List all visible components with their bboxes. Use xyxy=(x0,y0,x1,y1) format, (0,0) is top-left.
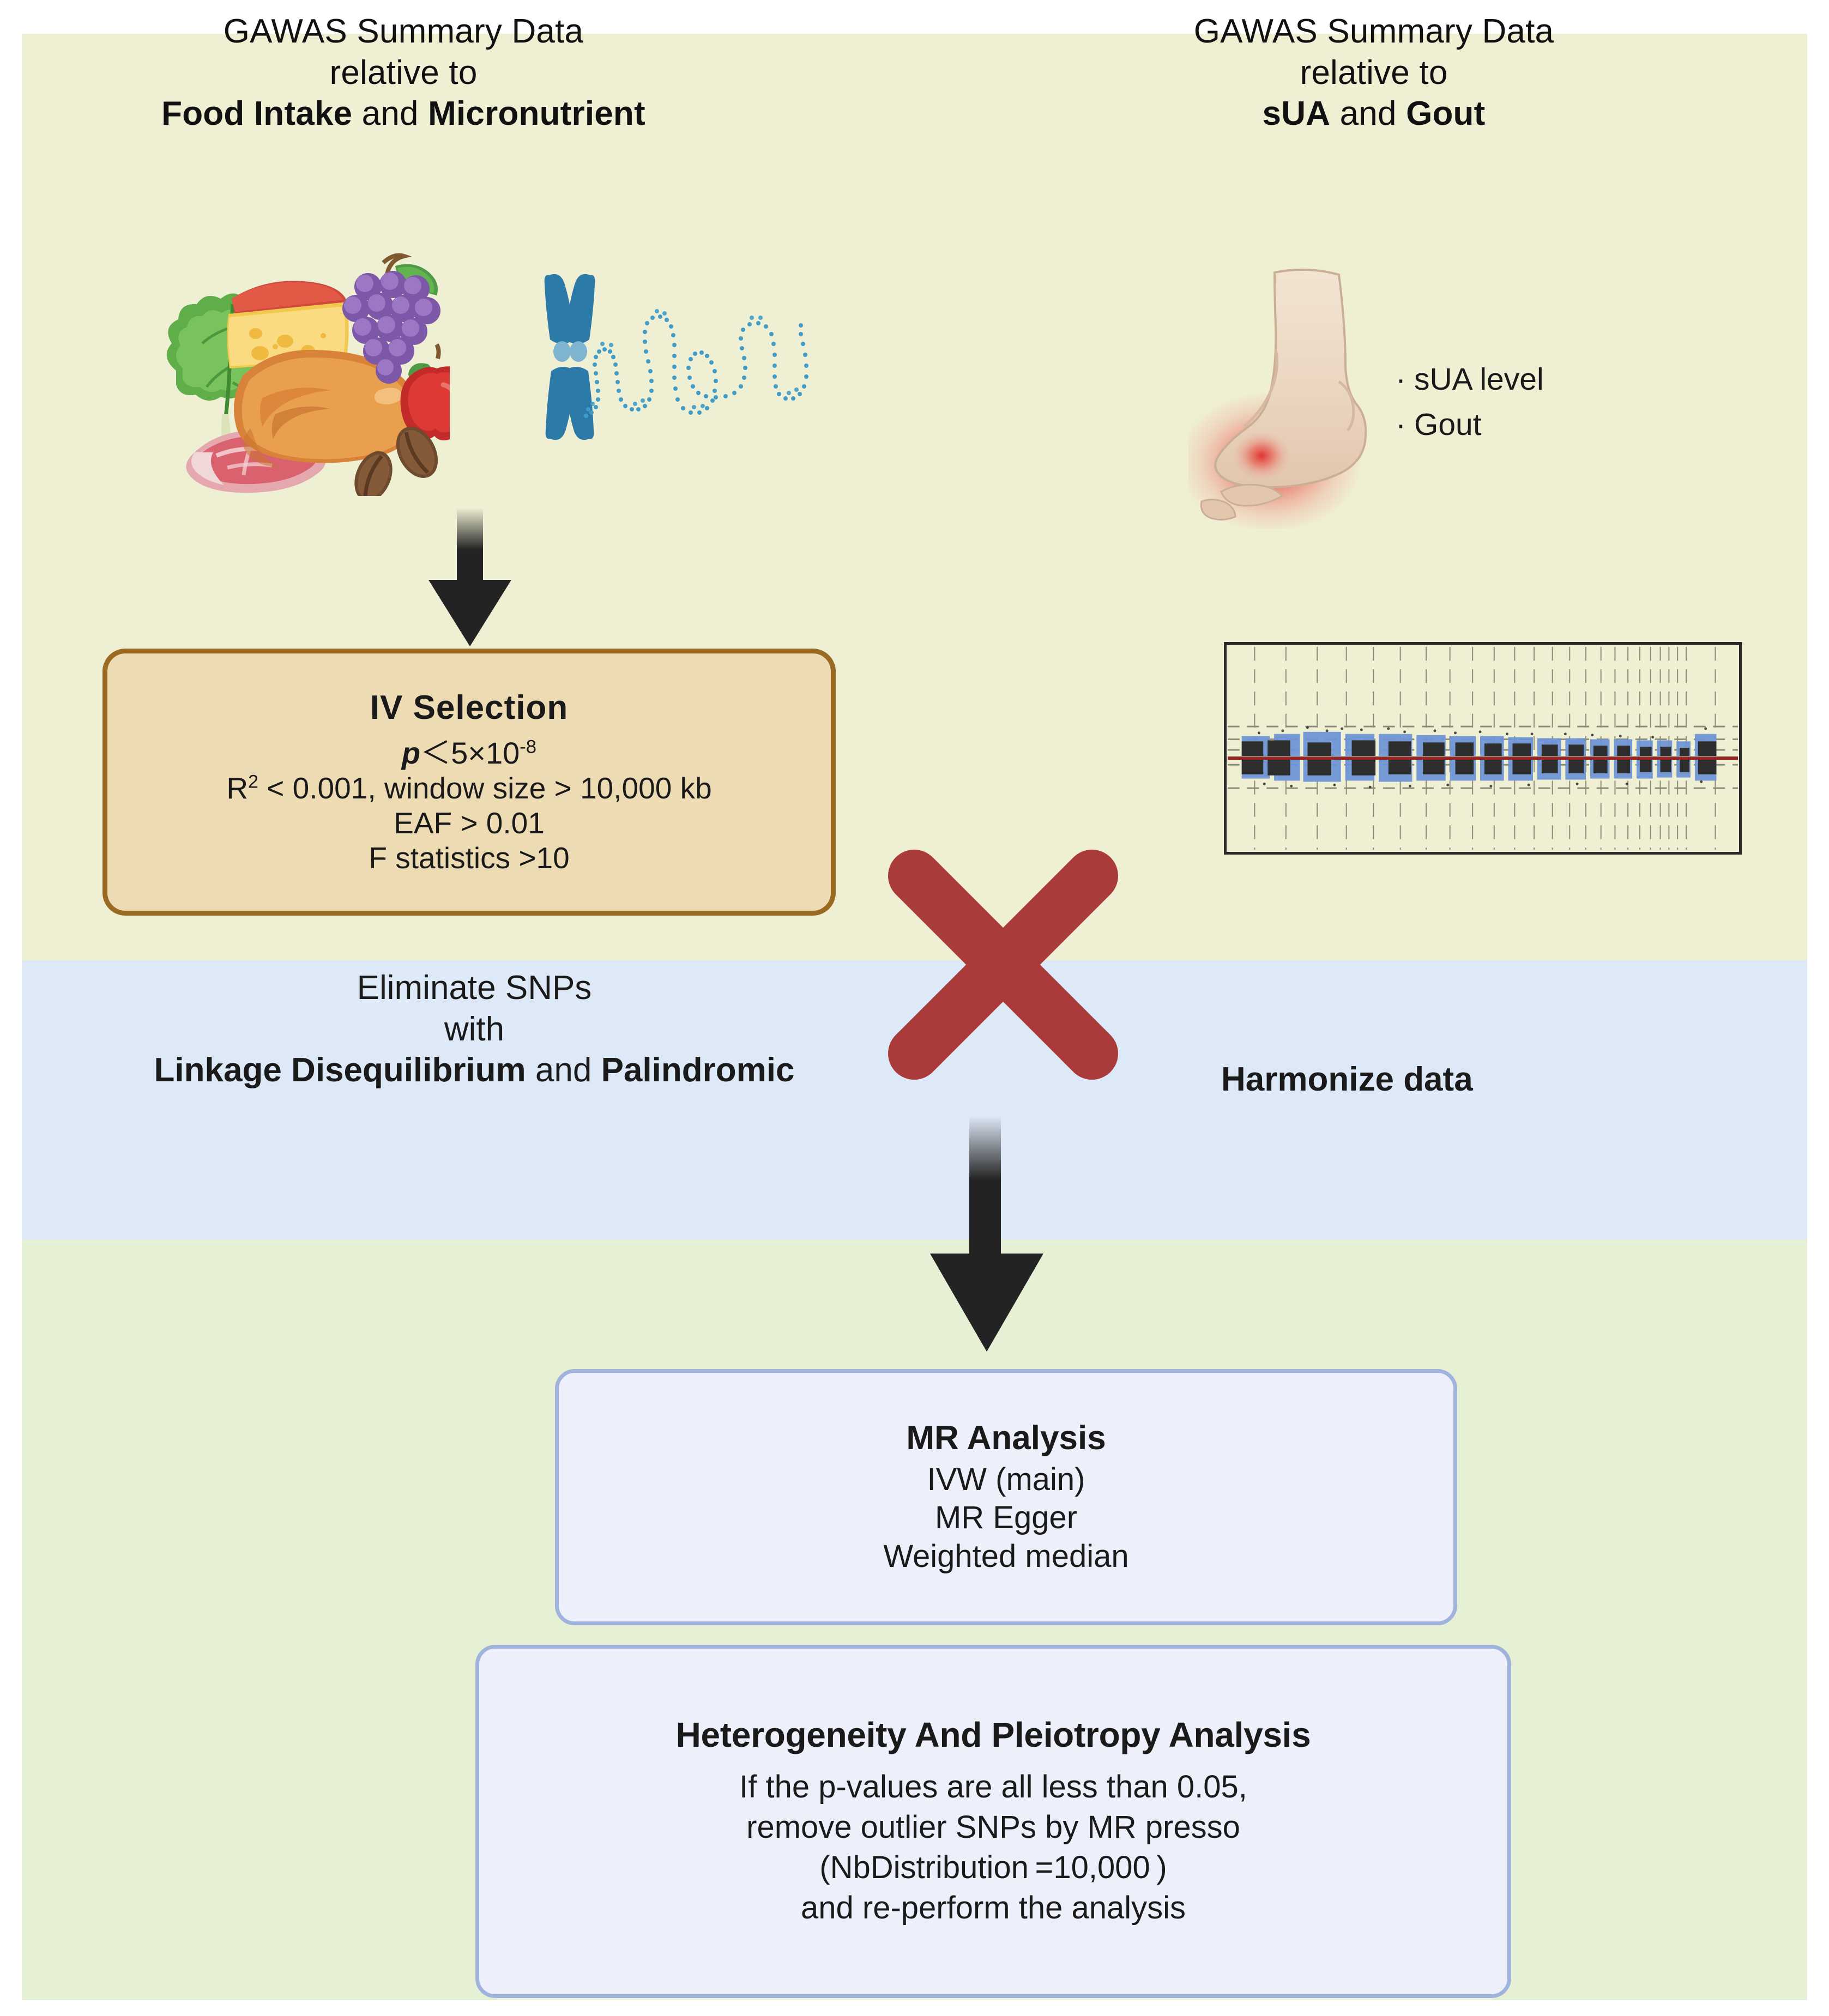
mr-analysis-title: MR Analysis xyxy=(906,1419,1106,1457)
outcome-header-line3: sUA and Gout xyxy=(1036,93,1712,135)
dna-strand-icon xyxy=(584,309,808,418)
iv-r2-rest: < 0.001, window size > 10,000 kb xyxy=(258,771,712,805)
iv-r2-window: R2 < 0.001, window size > 10,000 kb xyxy=(226,771,711,806)
heterogeneity-line: (NbDistribution =10,000 ) xyxy=(819,1848,1167,1888)
outcome-header-line1: GAWAS Summary Data xyxy=(1036,11,1712,52)
eliminate-line1: Eliminate SNPs xyxy=(33,967,916,1009)
arrow-down-to-iv-selection xyxy=(405,500,535,653)
mr-method: MR Egger xyxy=(935,1499,1077,1537)
iv-p-exponent: -8 xyxy=(520,737,536,758)
eliminate-line3: Linkage Disequilibrium and Palindromic xyxy=(33,1050,916,1091)
iv-selection-box: IV Selection p＜5×10-8 R2 < 0.001, window… xyxy=(102,649,836,916)
exposure-term-a: Food Intake xyxy=(161,95,352,132)
mr-method: Weighted median xyxy=(883,1537,1128,1576)
eliminate-conj: and xyxy=(526,1051,601,1089)
eliminate-line2: with xyxy=(33,1009,916,1050)
eliminate-term-a: Linkage Disequilibrium xyxy=(154,1051,526,1089)
red-cross-icon xyxy=(880,842,1126,1087)
exposure-header: GAWAS Summary Data relative to Food Inta… xyxy=(65,11,741,135)
outcome-header-line2: relative to xyxy=(1036,52,1712,94)
exposure-term-b: Micronutrient xyxy=(428,95,645,132)
bullet-glyph: · xyxy=(1396,402,1414,447)
outcome-header: GAWAS Summary Data relative to sUA and G… xyxy=(1036,11,1712,135)
exposure-conj: and xyxy=(352,95,428,132)
heterogeneity-pleiotropy-box: Heterogeneity And Pleiotropy Analysis If… xyxy=(475,1645,1511,1998)
eliminate-term-b: Palindromic xyxy=(601,1051,795,1089)
heterogeneity-line: If the p-values are all less than 0.05, xyxy=(739,1767,1247,1807)
heterogeneity-title: Heterogeneity And Pleiotropy Analysis xyxy=(676,1715,1311,1755)
iv-p-value: 5×10 xyxy=(451,736,520,770)
list-item-label: sUA level xyxy=(1414,362,1544,397)
iv-eaf: EAF > 0.01 xyxy=(394,806,545,841)
iv-selection-title: IV Selection xyxy=(370,688,568,727)
exposure-header-line2: relative to xyxy=(65,52,741,94)
list-item: ·sUA level xyxy=(1396,357,1777,402)
mr-analysis-box: MR Analysis IVW (main) MR Egger Weighted… xyxy=(555,1369,1457,1625)
harmonize-data-label: Harmonize data xyxy=(1221,1060,1712,1099)
outcome-conj: and xyxy=(1330,95,1406,132)
list-item-label: Gout xyxy=(1414,407,1482,442)
iv-f-statistics: F statistics >10 xyxy=(369,841,569,876)
iv-p-operator: ＜ xyxy=(420,736,451,770)
iv-p-symbol: p xyxy=(402,736,420,770)
outcome-term-a: sUA xyxy=(1263,95,1331,132)
eliminate-snps-text: Eliminate SNPs with Linkage Disequilibri… xyxy=(33,967,916,1091)
chromosome-dna-illustration xyxy=(510,270,842,444)
outcome-term-b: Gout xyxy=(1406,95,1485,132)
iv-r2-exponent: 2 xyxy=(248,772,258,792)
exposure-header-line1: GAWAS Summary Data xyxy=(65,11,741,52)
iv-r2-prefix: R xyxy=(226,771,248,805)
outcome-bullet-list: ·sUA level ·Gout xyxy=(1396,357,1777,447)
gwas-manhattan-plot xyxy=(1224,642,1742,855)
heterogeneity-line: remove outlier SNPs by MR presso xyxy=(746,1807,1240,1848)
mr-method: IVW (main) xyxy=(927,1461,1085,1499)
heterogeneity-line: and re-perform the analysis xyxy=(801,1888,1186,1928)
arrow-down-to-mr-analysis xyxy=(900,1111,1074,1361)
bullet-glyph: · xyxy=(1396,357,1414,402)
iv-p-threshold: p＜5×10-8 xyxy=(402,735,536,771)
exposure-header-line3: Food Intake and Micronutrient xyxy=(65,93,741,135)
assorted-food-illustration xyxy=(112,234,450,496)
flowchart-canvas: GAWAS Summary Data relative to Food Inta… xyxy=(0,0,1829,2016)
list-item: ·Gout xyxy=(1396,402,1777,447)
